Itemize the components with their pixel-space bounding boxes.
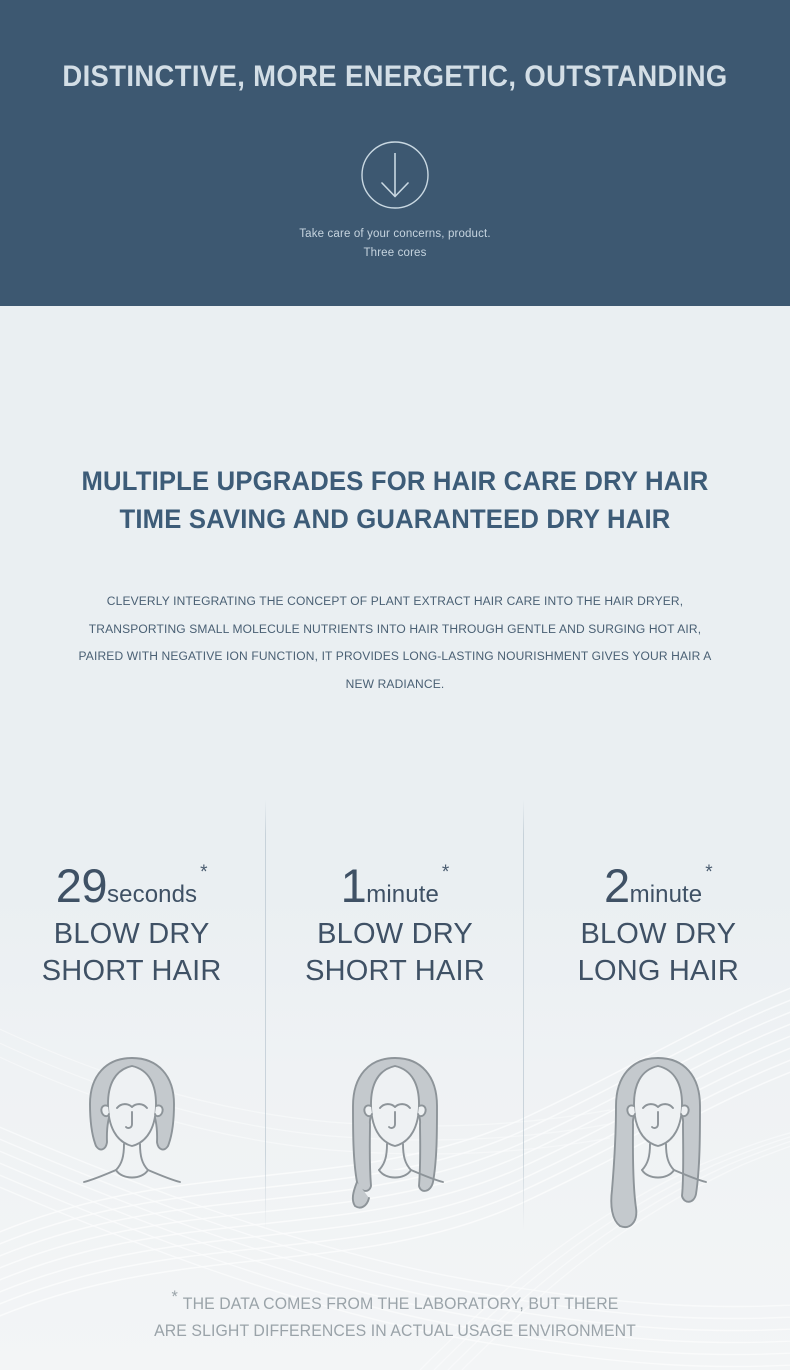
hero-subtitle: Take care of your concerns, product. Thr… bbox=[0, 225, 790, 263]
stat-unit-2: minute bbox=[366, 880, 439, 910]
stat-value-3: 2 bbox=[604, 862, 630, 910]
paragraph-line-1: CLEVERLY INTEGRATING THE CONCEPT OF PLAN… bbox=[12, 588, 778, 616]
stat-value-2: 1 bbox=[341, 862, 367, 910]
stat-unit-3: minute bbox=[630, 880, 703, 910]
stat-headline-2: 1 minute * bbox=[263, 862, 526, 910]
figure-column-3 bbox=[527, 1040, 790, 1255]
section-heading: MULTIPLE UPGRADES FOR HAIR CARE DRY HAIR… bbox=[20, 462, 771, 538]
section-heading-line-2: TIME SAVING AND GUARANTEED DRY HAIR bbox=[20, 500, 771, 538]
hero-banner: DISTINCTIVE, MORE ENERGETIC, OUTSTANDING… bbox=[0, 0, 790, 306]
stat-label-line-2-col-2: SHORT HAIR bbox=[263, 953, 526, 990]
paragraph-line-3: PAIRED WITH NEGATIVE ION FUNCTION, IT PR… bbox=[12, 643, 778, 671]
stat-column-1: 29 seconds * BLOW DRY SHORT HAIR bbox=[0, 862, 263, 1022]
woman-medium-hair-icon bbox=[325, 1040, 465, 1240]
stat-headline-1: 29 seconds * bbox=[0, 862, 263, 910]
stat-unit-1: seconds bbox=[107, 880, 197, 910]
stats-row: 29 seconds * BLOW DRY SHORT HAIR 1 minut… bbox=[0, 862, 790, 1022]
stat-column-2: 1 minute * BLOW DRY SHORT HAIR bbox=[263, 862, 526, 1022]
stat-column-3: 2 minute * BLOW DRY LONG HAIR bbox=[527, 862, 790, 1022]
stat-footnote-marker-1: * bbox=[200, 863, 207, 882]
stat-label-line-2-col-3: LONG HAIR bbox=[527, 953, 790, 990]
hero-subtitle-line-2: Three cores bbox=[363, 247, 426, 259]
stat-label-line-1-col-2: BLOW DRY bbox=[263, 916, 526, 953]
stat-label-line-1-col-1: BLOW DRY bbox=[0, 916, 263, 953]
stat-label-line-2-col-1: SHORT HAIR bbox=[0, 953, 263, 990]
woman-short-hair-icon bbox=[62, 1040, 202, 1240]
footnote-line-1: *THE DATA COMES FROM THE LABORATORY, BUT… bbox=[16, 1290, 774, 1318]
paragraph-line-2: TRANSPORTING SMALL MOLECULE NUTRIENTS IN… bbox=[12, 616, 778, 644]
section-heading-line-1: MULTIPLE UPGRADES FOR HAIR CARE DRY HAIR bbox=[20, 462, 771, 500]
footnote-line-2: ARE SLIGHT DIFFERENCES IN ACTUAL USAGE E… bbox=[16, 1318, 774, 1345]
footnote-line-1-text: THE DATA COMES FROM THE LABORATORY, BUT … bbox=[183, 1295, 619, 1313]
hero-title: DISTINCTIVE, MORE ENERGETIC, OUTSTANDING bbox=[28, 60, 763, 94]
woman-long-hair-icon bbox=[588, 1040, 728, 1250]
stat-label-line-1-col-3: BLOW DRY bbox=[527, 916, 790, 953]
hero-subtitle-line-1: Take care of your concerns, product. bbox=[299, 228, 490, 240]
figures-row bbox=[0, 1040, 790, 1255]
stat-value-1: 29 bbox=[56, 862, 107, 910]
figure-column-1 bbox=[0, 1040, 263, 1255]
figure-column-2 bbox=[263, 1040, 526, 1255]
section-paragraph: CLEVERLY INTEGRATING THE CONCEPT OF PLAN… bbox=[12, 588, 778, 698]
stat-headline-3: 2 minute * bbox=[527, 862, 790, 910]
circle-down-arrow-icon bbox=[359, 139, 431, 211]
paragraph-line-4: NEW RADIANCE. bbox=[12, 671, 778, 699]
footnote: *THE DATA COMES FROM THE LABORATORY, BUT… bbox=[16, 1290, 774, 1345]
stat-footnote-marker-3: * bbox=[705, 863, 712, 882]
stat-footnote-marker-2: * bbox=[442, 863, 449, 882]
footnote-marker: * bbox=[172, 1287, 178, 1306]
